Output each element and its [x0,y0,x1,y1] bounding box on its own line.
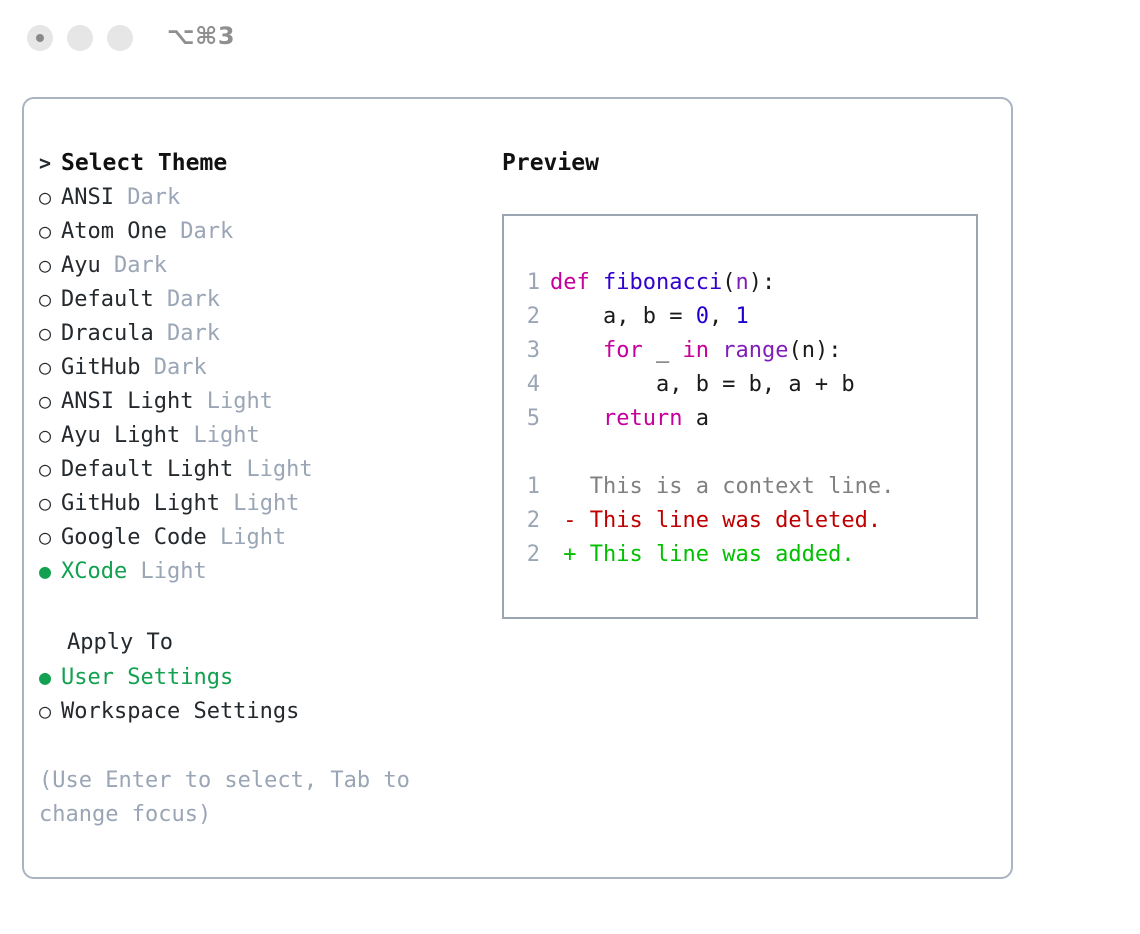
theme-option-ansi-light[interactable]: ○ANSI Light Light [39,384,479,418]
theme-option-label: GitHub Light [61,491,220,516]
terminal-window: ⌥⌘3 >Select Theme ○ANSI Dark○Atom One Da… [0,0,1140,934]
code-token-kw: return [603,406,682,431]
code-line-number: 5 [518,402,540,436]
radio-unselected-icon: ○ [39,282,61,316]
theme-option-variant-tag: Dark [127,185,180,210]
code-line-number: 3 [518,334,540,368]
code-token-pl: , [709,304,736,329]
preview-code-content: 1def fibonacci(n):2 a, b = 0, 13 for _ i… [518,266,970,572]
radio-unselected-icon: ○ [39,180,61,214]
theme-option-ayu[interactable]: ○Ayu Dark [39,248,479,282]
theme-option-variant-tag: Dark [167,287,220,312]
apply-to-option-label: Workspace Settings [61,699,299,724]
theme-option-variant-tag: Light [140,559,206,584]
section-spacer [39,588,479,626]
apply-to-list: ●User Settings○Workspace Settings [39,660,479,728]
radio-unselected-icon: ○ [39,214,61,248]
radio-unselected-icon: ○ [39,384,61,418]
theme-option-variant-tag: Dark [167,321,220,346]
apply-to-option-user-settings[interactable]: ●User Settings [39,660,479,694]
theme-option-label: Dracula [61,321,154,346]
traffic-light-minimize-icon[interactable] [67,25,93,51]
theme-option-label: XCode [61,559,127,584]
preview-title: Preview [502,146,1002,180]
theme-option-dracula[interactable]: ○Dracula Dark [39,316,479,350]
radio-unselected-icon: ○ [39,520,61,554]
keyboard-hint-text: (Use Enter to select, Tab to change focu… [39,764,439,832]
code-token-kw: in [682,338,709,363]
diff-marker-icon [550,474,590,499]
keyboard-shortcut-label: ⌥⌘3 [167,22,235,50]
theme-option-xcode[interactable]: ●XCode Light [39,554,479,588]
theme-option-label: Ayu Light [61,423,180,448]
code-token-pl [550,406,603,431]
code-token-pl: a, b = b, a + b [550,372,855,397]
theme-option-variant-tag: Dark [180,219,233,244]
code-line-number: 4 [518,368,540,402]
theme-option-variant-tag: Light [233,491,299,516]
theme-option-variant-tag: Dark [114,253,167,278]
code-line-number: 2 [518,300,540,334]
preview-code-box: 1def fibonacci(n):2 a, b = 0, 13 for _ i… [502,214,978,619]
code-token-num: 0 [696,304,709,329]
code-token-num: 1 [735,304,748,329]
theme-option-variant-tag: Light [207,389,273,414]
diff-sample: 1 This is a context line.2 - This line w… [518,470,970,572]
code-token-bi: n [735,270,748,295]
theme-option-label: Atom One [61,219,167,244]
radio-unselected-icon: ○ [39,452,61,486]
diff-line-del: 2 - This line was deleted. [518,504,970,538]
code-line: 3 for _ in range(n): [518,334,970,368]
traffic-light-maximize-icon[interactable] [107,25,133,51]
diff-line-text: This line was deleted. [590,508,881,533]
theme-option-label: Google Code [61,525,207,550]
code-token-pl: (n): [788,338,841,363]
code-token-pl: ): [749,270,776,295]
apply-to-header: Apply To [39,626,479,660]
code-token-kw: for [603,338,643,363]
diff-marker-icon: + [550,542,590,567]
select-theme-header-label: Select Theme [61,150,227,176]
diff-line-text: This line was added. [590,542,855,567]
theme-option-label: GitHub [61,355,140,380]
theme-option-label: Ayu [61,253,101,278]
apply-to-option-label: User Settings [61,665,233,690]
theme-option-label: Default Light [61,457,233,482]
code-token-pl: a [682,406,709,431]
radio-selected-icon: ● [39,660,61,694]
window-title-bar: ⌥⌘3 [0,0,1140,78]
diff-marker-icon: - [550,508,590,533]
code-token-pl [709,338,722,363]
diff-line-number: 2 [518,504,540,538]
code-token-kw: def [550,270,590,295]
theme-option-variant-tag: Dark [154,355,207,380]
radio-unselected-icon: ○ [39,486,61,520]
prompt-caret-icon: > [39,146,61,180]
select-theme-header: >Select Theme [39,146,479,180]
code-line: 4 a, b = b, a + b [518,368,970,402]
radio-selected-icon: ● [39,554,61,588]
radio-unselected-icon: ○ [39,316,61,350]
code-line-number: 1 [518,266,540,300]
diff-line-number: 1 [518,470,540,504]
theme-option-variant-tag: Light [193,423,259,448]
diff-line-add: 2 + This line was added. [518,538,970,572]
code-token-bi: range [722,338,788,363]
code-token-pl [550,338,603,363]
code-sample: 1def fibonacci(n):2 a, b = 0, 13 for _ i… [518,266,970,436]
theme-option-github-light[interactable]: ○GitHub Light Light [39,486,479,520]
code-diff-gap [518,436,970,470]
code-token-fn: fibonacci [603,270,722,295]
radio-unselected-icon: ○ [39,418,61,452]
theme-option-github[interactable]: ○GitHub Dark [39,350,479,384]
theme-option-label: ANSI Light [61,389,193,414]
code-token-pl: ( [722,270,735,295]
theme-option-label: Default [61,287,154,312]
radio-unselected-icon: ○ [39,694,61,728]
theme-option-ansi[interactable]: ○ANSI Dark [39,180,479,214]
code-token-pl: _ [643,338,683,363]
code-line: 5 return a [518,402,970,436]
theme-option-default[interactable]: ○Default Dark [39,282,479,316]
theme-option-label: ANSI [61,185,114,210]
apply-to-option-workspace-settings[interactable]: ○Workspace Settings [39,694,479,728]
traffic-light-close-icon[interactable] [27,25,53,51]
radio-unselected-icon: ○ [39,248,61,282]
theme-picker-column: >Select Theme ○ANSI Dark○Atom One Dark○A… [39,146,479,832]
theme-option-default-light[interactable]: ○Default Light Light [39,452,479,486]
diff-line-number: 2 [518,538,540,572]
theme-option-google-code[interactable]: ○Google Code Light [39,520,479,554]
theme-option-variant-tag: Light [220,525,286,550]
code-token-pl [590,270,603,295]
theme-option-variant-tag: Light [246,457,312,482]
traffic-light-active-dot-icon [36,34,44,42]
diff-line-text: This is a context line. [590,474,895,499]
radio-unselected-icon: ○ [39,350,61,384]
preview-column: Preview 1def fibonacci(n):2 a, b = 0, 13… [502,146,1002,619]
diff-line-ctx: 1 This is a context line. [518,470,970,504]
theme-option-atom-one[interactable]: ○Atom One Dark [39,214,479,248]
main-panel: >Select Theme ○ANSI Dark○Atom One Dark○A… [22,97,1013,879]
code-line: 2 a, b = 0, 1 [518,300,970,334]
theme-list: ○ANSI Dark○Atom One Dark○Ayu Dark○Defaul… [39,180,479,588]
theme-option-ayu-light[interactable]: ○Ayu Light Light [39,418,479,452]
code-token-pl: a, b = [550,304,696,329]
code-line: 1def fibonacci(n): [518,266,970,300]
